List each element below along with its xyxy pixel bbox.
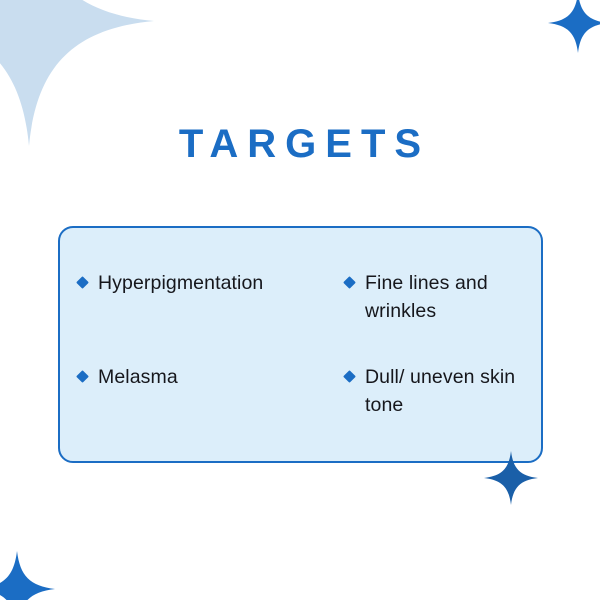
targets-list: Hyperpigmentation Fine lines and wrinkle…	[78, 269, 531, 419]
list-item-label: Dull/ uneven skin tone	[365, 363, 531, 419]
sparkle-icon-bottom-left	[0, 551, 55, 600]
diamond-bullet-icon	[343, 370, 356, 383]
list-item[interactable]: Dull/ uneven skin tone	[345, 363, 531, 419]
list-item-label: Melasma	[98, 363, 178, 391]
diamond-bullet-icon	[76, 370, 89, 383]
targets-card: Hyperpigmentation Fine lines and wrinkle…	[58, 226, 543, 463]
list-item-label: Fine lines and wrinkles	[365, 269, 531, 325]
list-item[interactable]: Melasma	[78, 363, 345, 419]
list-item[interactable]: Fine lines and wrinkles	[345, 269, 531, 325]
diamond-bullet-icon	[343, 276, 356, 289]
page-title: TARGETS	[0, 124, 600, 164]
list-item-label: Hyperpigmentation	[98, 269, 263, 297]
diamond-bullet-icon	[76, 276, 89, 289]
slide-canvas: TARGETS Hyperpigmentation Fine lines and…	[0, 0, 600, 600]
sparkle-icon-top-right	[548, 0, 600, 53]
list-item[interactable]: Hyperpigmentation	[78, 269, 345, 325]
